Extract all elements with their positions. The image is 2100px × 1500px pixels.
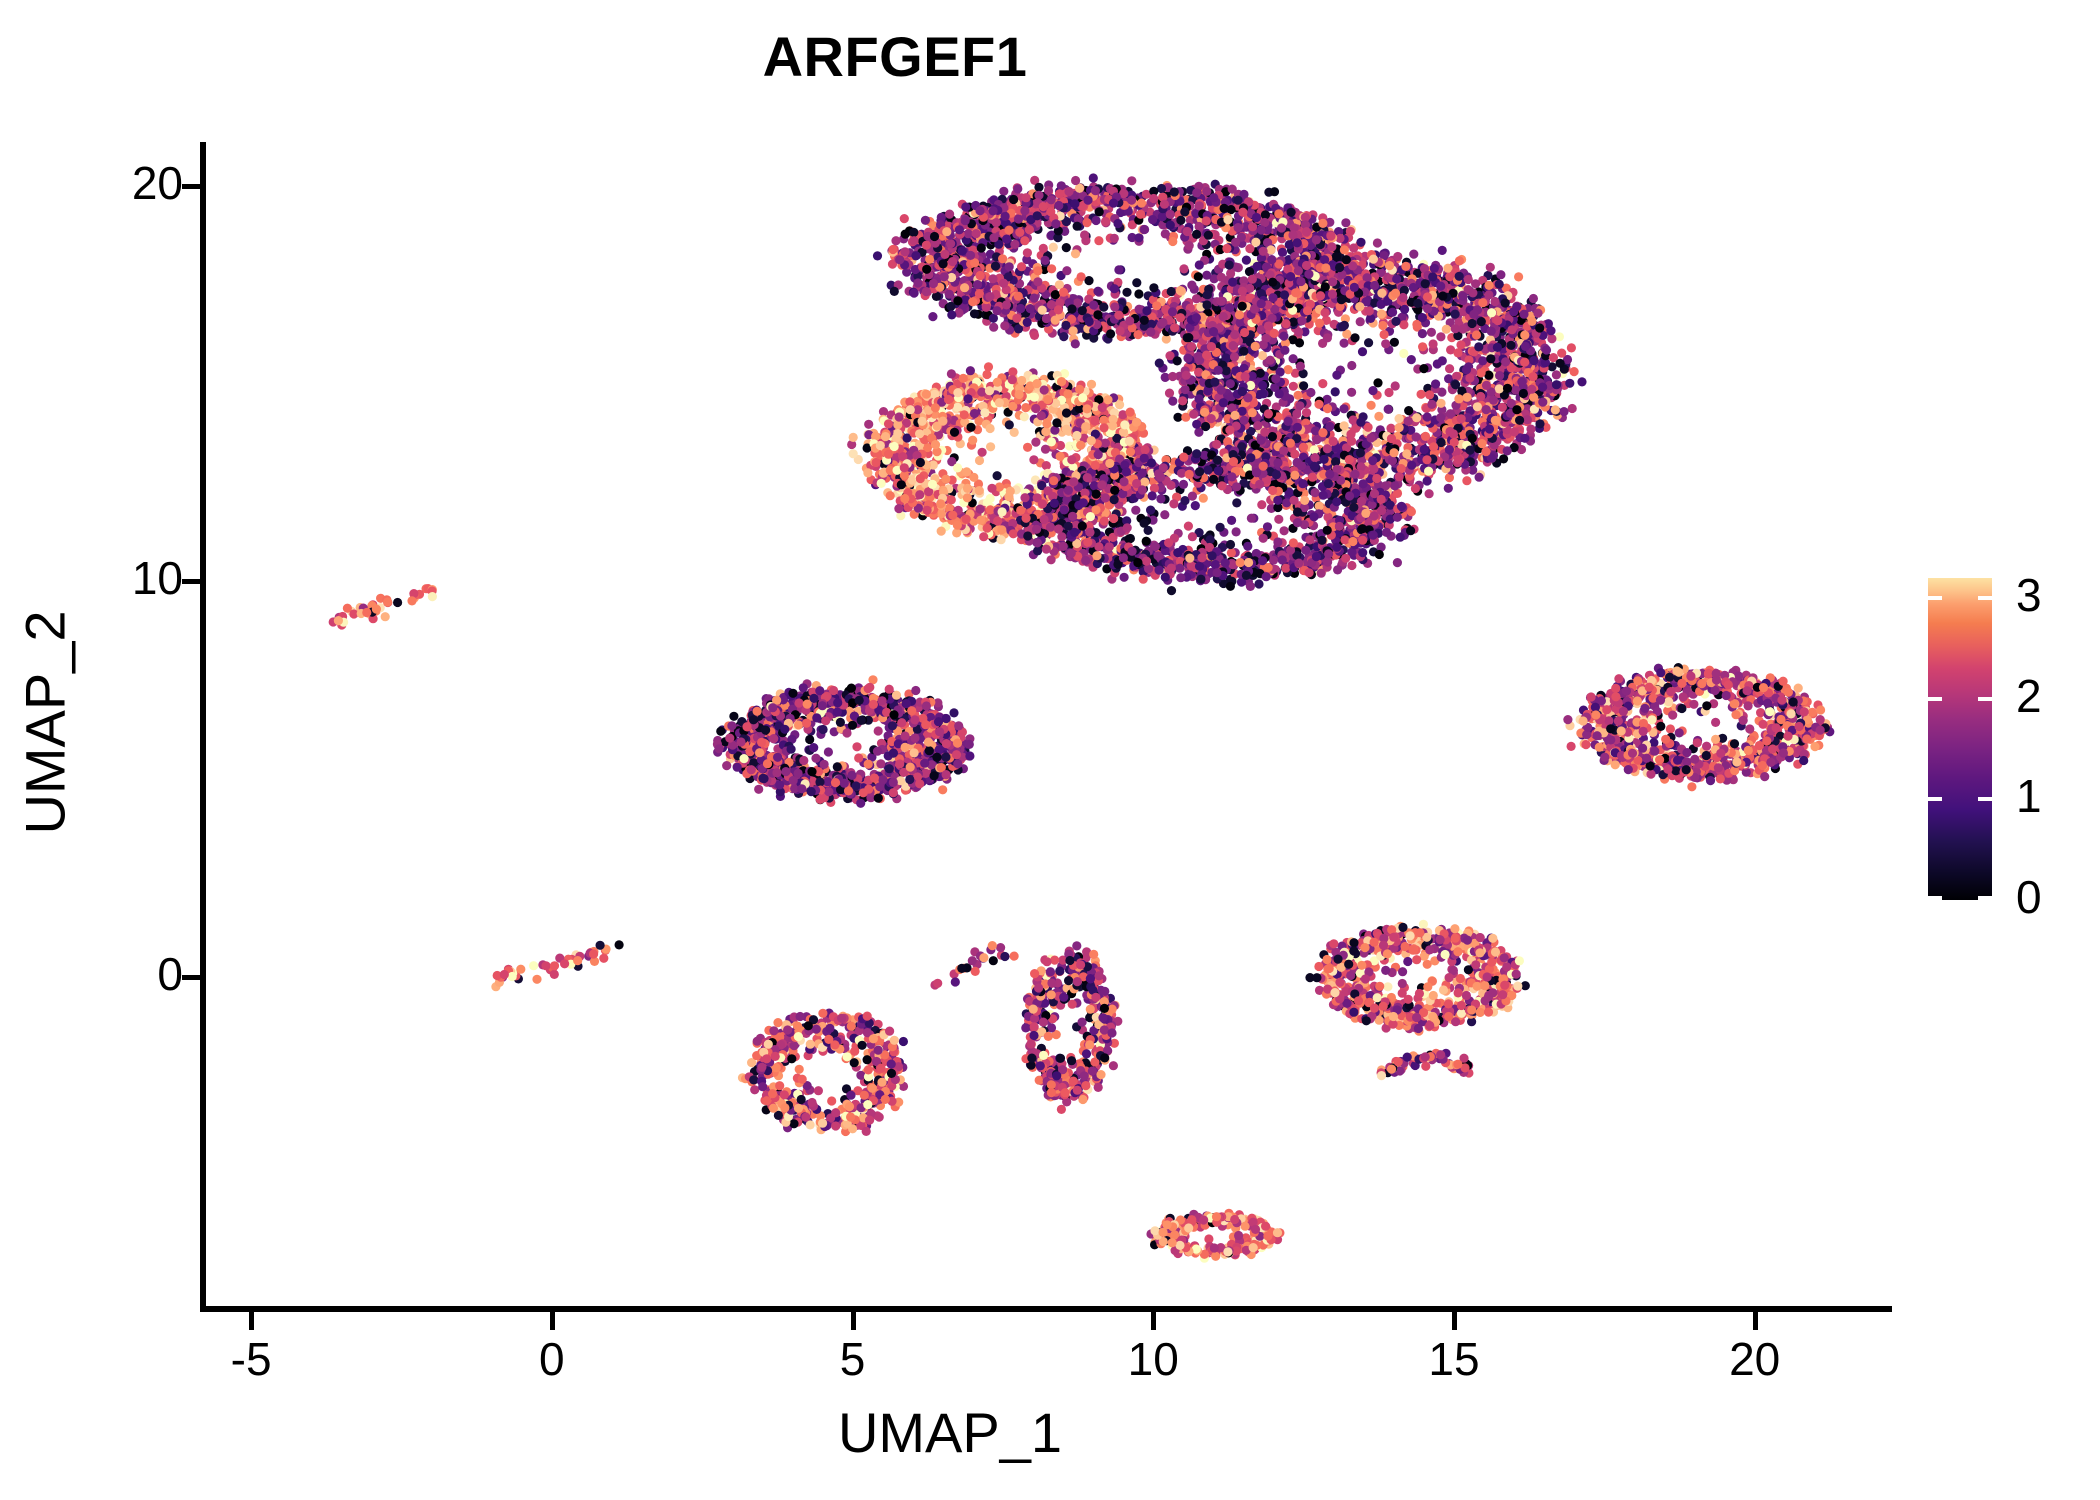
x-tick-mark	[851, 1312, 856, 1330]
y-axis-title: UMAP_2	[13, 323, 78, 1123]
colorbar-tick-mark	[1928, 896, 1942, 900]
y-tick-mark	[182, 184, 200, 189]
colorbar-legend: 0123	[1928, 578, 2098, 908]
colorbar-tick-mark	[1978, 797, 1992, 801]
scatter-points-layer	[203, 142, 1893, 1310]
plot-panel	[203, 142, 1893, 1310]
x-tick-mark	[1753, 1312, 1758, 1330]
page-title: ARFGEF1	[0, 28, 1790, 87]
colorbar-tick-mark	[1978, 596, 1992, 600]
colorbar-tick-mark	[1928, 697, 1942, 701]
x-tick-mark	[550, 1312, 555, 1330]
x-tick-mark	[249, 1312, 254, 1330]
colorbar-tick-label: 1	[2016, 773, 2096, 819]
y-axis-line	[200, 142, 206, 1312]
colorbar-tick-label: 3	[2016, 572, 2096, 618]
x-tick-label: 20	[1665, 1336, 1845, 1382]
y-tick-label: 20	[23, 160, 183, 206]
x-tick-label: -5	[161, 1336, 341, 1382]
colorbar-tick-mark	[1978, 697, 1992, 701]
colorbar-gradient	[1928, 578, 1992, 900]
x-tick-mark	[1452, 1312, 1457, 1330]
colorbar-tick-label: 2	[2016, 673, 2096, 719]
x-tick-label: 10	[1063, 1336, 1243, 1382]
x-axis-line	[200, 1306, 1892, 1312]
colorbar-tick-mark	[1928, 797, 1942, 801]
colorbar-tick-mark	[1928, 596, 1942, 600]
colorbar-tick-mark	[1978, 896, 1992, 900]
y-tick-mark	[182, 579, 200, 584]
x-axis-title: UMAP_1	[0, 1400, 1900, 1465]
y-tick-mark	[182, 975, 200, 980]
x-tick-label: 15	[1364, 1336, 1544, 1382]
colorbar-tick-label: 0	[2016, 874, 2096, 920]
x-tick-mark	[1151, 1312, 1156, 1330]
feature-plot-figure: ARFGEF1 01020 -505101520 UMAP_1 UMAP_2 0…	[0, 0, 2100, 1500]
x-tick-label: 0	[462, 1336, 642, 1382]
x-tick-label: 5	[763, 1336, 943, 1382]
